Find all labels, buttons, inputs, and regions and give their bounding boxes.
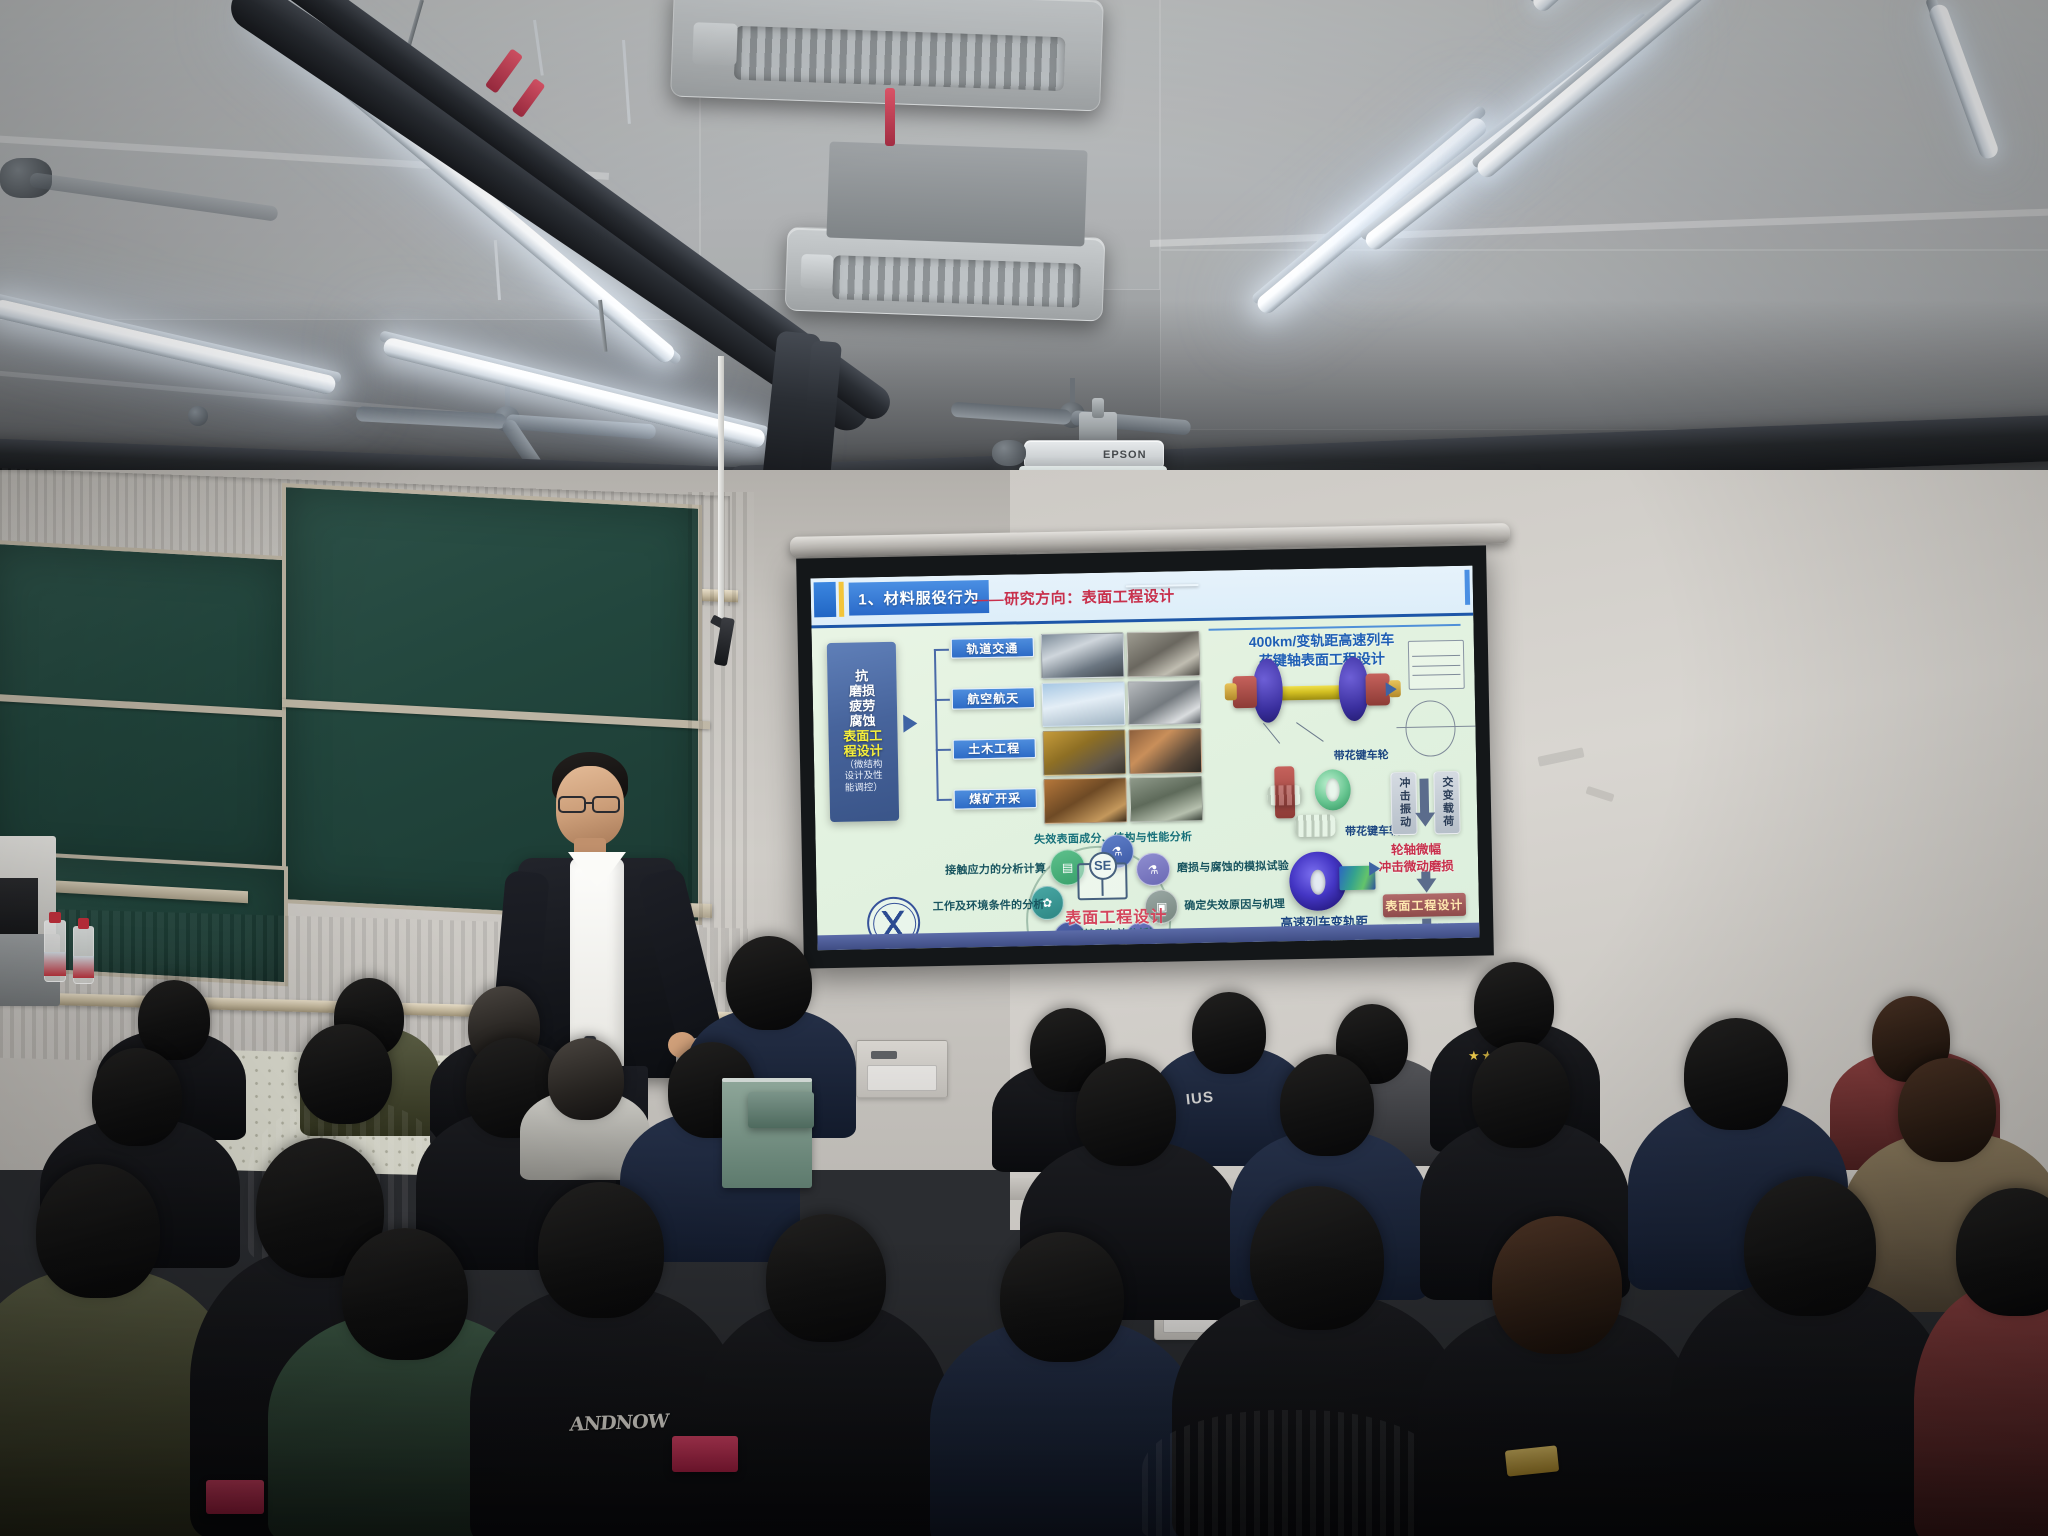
title-yellow-bar	[838, 582, 844, 617]
title-blue-block	[813, 582, 836, 617]
keyword-corrosion: 腐蚀	[849, 715, 875, 730]
wear-line-2: 冲击微动磨损	[1379, 858, 1454, 876]
audience-head	[1474, 962, 1554, 1050]
audience-head	[298, 1024, 392, 1124]
wear-line-1: 轮轴微幅	[1378, 841, 1453, 859]
cad-line	[1412, 665, 1460, 667]
thumbnail-rail-track	[1130, 776, 1204, 822]
jersey-text: IUS	[1185, 1089, 1215, 1109]
slide-title-bar: 1、材料服役行为 ——研究方向：表面工程设计	[811, 566, 1474, 629]
tree-branch	[934, 648, 949, 650]
projection-screen-frame: 1、材料服役行为 ——研究方向：表面工程设计 抗 磨损 疲劳 腐蚀 表面工 程设…	[796, 545, 1494, 968]
keyword-surface-eng-1: 表面工	[843, 729, 882, 744]
audience-shoulders	[1142, 1410, 1442, 1536]
desk-edge	[722, 1078, 812, 1082]
category-rail-transit: 轨道交通	[951, 637, 1034, 659]
audience-head	[1000, 1232, 1124, 1362]
mic-pole	[718, 356, 724, 624]
right-panel-title: 400km/变轨距高速列车 花键轴表面工程设计	[1222, 630, 1421, 672]
audience-head	[1250, 1186, 1384, 1330]
ac-vent	[800, 254, 833, 289]
wear-mode-label: 轮轴微幅 冲击微动磨损	[1378, 841, 1454, 875]
ac-grille	[734, 26, 1066, 91]
panel-slot	[871, 1051, 897, 1059]
red-box[interactable]	[206, 1480, 264, 1514]
tree-branch	[937, 799, 952, 801]
audience-head	[726, 936, 812, 1030]
audience-head	[342, 1228, 468, 1360]
arrow-stem	[1420, 779, 1430, 816]
slide-title-number: 1、材料服役行为	[849, 580, 989, 616]
audience-head	[1898, 1058, 1996, 1162]
slide-title-subtitle: ——研究方向：表面工程设计	[973, 585, 1175, 610]
chalkboard-left[interactable]	[0, 540, 288, 887]
cycle-label-working-conditions: 工作及环境条件的分析	[933, 896, 1045, 914]
audience-shoulders	[1670, 1278, 1950, 1536]
splined-shaft-part	[1295, 814, 1335, 837]
logo-glyph	[879, 911, 907, 937]
surface-engineering-design-band: 表面工程设计	[1383, 893, 1466, 917]
audience-head	[1684, 1018, 1788, 1130]
cad-drawing-shaft	[1408, 640, 1465, 689]
hoodie-text: ANDNOW	[569, 1410, 669, 1435]
electrical-panel[interactable]	[856, 1040, 948, 1098]
thumbnail-high-speed-train	[1041, 633, 1125, 679]
red-box[interactable]	[672, 1436, 738, 1472]
category-civil-engineering: 土木工程	[953, 738, 1036, 760]
glasses-left-lens	[558, 796, 586, 813]
cycle-label-failure-mechanism: 确定失效原因与机理	[1184, 895, 1285, 913]
cable-clamp	[885, 88, 895, 146]
audience-head	[548, 1038, 624, 1120]
arrow-right-icon	[903, 714, 917, 732]
bottle-label	[73, 956, 94, 978]
ac-duct-housing	[826, 142, 1087, 247]
cycle-label-wear-corrosion-test: 磨损与腐蚀的模拟试验	[1177, 858, 1289, 876]
glasses-right-lens	[592, 796, 620, 813]
spline-section	[1267, 785, 1302, 806]
bottle-label	[44, 952, 66, 976]
board-divider	[0, 694, 298, 718]
audience-shoulders	[1914, 1282, 2048, 1536]
fem-bore	[1310, 869, 1325, 894]
presentation-slide: 1、材料服役行为 ——研究方向：表面工程设计 抗 磨损 疲劳 腐蚀 表面工 程设…	[811, 566, 1480, 951]
audience-head	[1472, 1042, 1570, 1148]
ceiling-sensor	[188, 406, 208, 426]
audience-head	[766, 1214, 886, 1342]
ac-grille	[832, 255, 1081, 308]
load-impact-vibration: 冲击振动	[1390, 771, 1418, 835]
audience-head	[1744, 1176, 1876, 1316]
se-badge: SE	[1089, 852, 1117, 880]
projector-brand-label: EPSON	[1103, 449, 1147, 461]
left-keyword-stack: 抗 磨损 疲劳 腐蚀 表面工 程设计 （微结构 设计及性 能调控）	[826, 642, 899, 822]
thumbnail-turbine-blades	[1128, 680, 1202, 726]
keyword-kang: 抗	[855, 670, 868, 684]
audience-head	[538, 1182, 664, 1318]
thumbnail-airliner	[1042, 681, 1126, 727]
wheel-bore	[1326, 778, 1340, 801]
right-panel-title-line1: 400km/变轨距高速列车	[1222, 630, 1421, 653]
bottle-cap	[78, 918, 89, 929]
title-right-edge	[1465, 570, 1470, 605]
right-panel-title-line2: 花键轴表面工程设计	[1222, 649, 1421, 672]
arrow-down-icon	[1417, 879, 1437, 893]
lecture-hall-photo: EPSON	[0, 0, 2048, 1536]
right-panel-divider	[1209, 624, 1461, 631]
leader-line	[1263, 722, 1280, 743]
arrow-right-icon	[1369, 861, 1380, 875]
keyword-fatigue: 疲劳	[849, 700, 875, 715]
flask-icon: ⚗	[1136, 852, 1170, 886]
ceiling-speaker	[992, 440, 1026, 466]
audience-head	[1280, 1054, 1374, 1156]
panel-cover	[867, 1065, 937, 1091]
presenter-shirt	[570, 858, 624, 1068]
arrow-right-icon	[1385, 682, 1396, 696]
audience-head	[92, 1048, 182, 1146]
cad-drawing-section	[1405, 700, 1456, 757]
hub-cap-left	[1225, 684, 1237, 701]
projector-mount-rod	[1092, 398, 1104, 418]
board-divider	[282, 699, 710, 729]
tree-branch	[935, 698, 950, 700]
tree-branch	[936, 749, 951, 751]
bottle-cap	[49, 912, 61, 923]
category-coal-mining: 煤矿开采	[954, 788, 1037, 810]
ac-vent	[692, 22, 737, 66]
category-aerospace: 航空航天	[952, 688, 1035, 710]
keyword-surface-eng-2: 程设计	[844, 745, 883, 760]
projection-screen[interactable]: 1、材料服役行为 ——研究方向：表面工程设计 抗 磨损 疲劳 腐蚀 表面工 程设…	[811, 566, 1480, 951]
keyword-note-2: 设计及性	[845, 771, 883, 782]
audience-head	[1192, 992, 1266, 1074]
audience-head	[1492, 1216, 1622, 1354]
thumbnail-metal-gears	[1127, 631, 1201, 677]
cad-line	[1413, 674, 1461, 676]
keyword-note-3: 能调控）	[845, 783, 883, 794]
glasses-bridge	[585, 802, 594, 804]
leader-line	[1296, 722, 1324, 742]
audience-head	[36, 1164, 160, 1298]
splined-wheel	[1314, 769, 1351, 811]
load-alternating: 交变载荷	[1433, 771, 1461, 835]
audience-head	[1076, 1058, 1176, 1166]
contact-stress-fem	[1289, 851, 1346, 912]
label-splined-wheel: 带花键车轮	[1333, 746, 1388, 763]
cad-line	[1412, 655, 1460, 657]
arrow-down-icon	[1416, 812, 1436, 826]
thumbnail-excavator	[1043, 729, 1127, 775]
thumbnail-steel-beam	[1129, 728, 1203, 774]
cycle-label-contact-stress: 接触应力的分析计算	[945, 860, 1046, 878]
audience-head	[138, 980, 210, 1060]
hair-clip	[1505, 1445, 1559, 1476]
desk-surface	[748, 1092, 814, 1128]
thumbnail-coal-mine	[1043, 778, 1127, 824]
keyword-wear: 磨损	[849, 685, 875, 700]
tree-bracket	[934, 649, 939, 802]
